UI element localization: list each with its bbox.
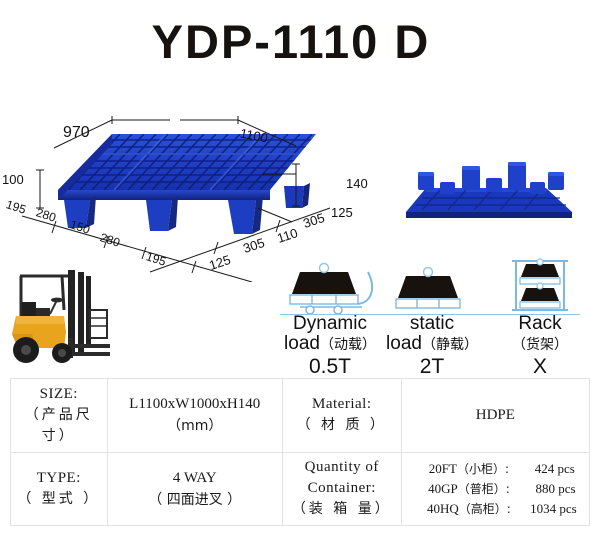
cell-container-label: Quantity of Container: （装 箱 量） bbox=[282, 452, 401, 526]
hand-pallet-truck-icon bbox=[276, 258, 384, 314]
forklift-photo bbox=[6, 258, 130, 376]
load-label-line2: load（动载） bbox=[276, 334, 384, 355]
rack-shelf-icon bbox=[490, 258, 590, 314]
load-value-rack: X bbox=[490, 355, 590, 378]
cell-container-value: 20FT（小柜）: 424 pcs 40GP（普柜）: 880 pcs 40HQ… bbox=[401, 452, 589, 526]
specification-table: SIZE: （产品尺寸） L1100xW1000xH140（mm） Materi… bbox=[10, 378, 590, 526]
container-row-40hq: 40HQ（高柜）: 1034 pcs bbox=[416, 499, 588, 519]
cell-type-value: 4 WAY （ 四面进叉 ） bbox=[107, 452, 282, 526]
inverted-pallet-diagram bbox=[396, 138, 586, 233]
container-row-40gp: 40GP（普柜）: 880 pcs bbox=[416, 479, 588, 499]
static-stack-icon bbox=[380, 258, 484, 314]
load-label-line1: Rack bbox=[490, 314, 590, 334]
cell-size-label: SIZE: （产品尺寸） bbox=[11, 379, 108, 453]
cell-size-value: L1100xW1000xH140（mm） bbox=[107, 379, 282, 453]
container-row-20ft: 20FT（小柜）: 424 pcs bbox=[416, 459, 588, 479]
dim-total-height-140: 140 bbox=[346, 176, 368, 191]
dim-edge-125-right: 125 bbox=[331, 205, 353, 220]
table-row-size: SIZE: （产品尺寸） L1100xW1000xH140（mm） Materi… bbox=[11, 379, 590, 453]
cell-type-label: TYPE: （ 型式 ） bbox=[11, 452, 108, 526]
cell-material-label: Material: （ 材 质 ） bbox=[282, 379, 401, 453]
load-label-line1: static bbox=[380, 314, 484, 334]
page-title: YDP-1110 D bbox=[0, 14, 600, 69]
load-column-static: static load（静载） 2T bbox=[380, 258, 484, 378]
load-capacity-panel: Dynamic load（动载） 0.5T static load（静载） 2T bbox=[276, 258, 594, 376]
load-label-line1: Dynamic bbox=[276, 314, 384, 334]
load-label-line2: （货架） bbox=[490, 334, 590, 355]
load-value-dynamic: 0.5T bbox=[276, 355, 384, 378]
dim-width-970: 970 bbox=[63, 124, 90, 142]
table-row-type: TYPE: （ 型式 ） 4 WAY （ 四面进叉 ） Quantity of … bbox=[11, 452, 590, 526]
load-value-static: 2T bbox=[380, 355, 484, 378]
dim-foot-height-100: 100 bbox=[2, 172, 24, 187]
load-column-dynamic: Dynamic load（动载） 0.5T bbox=[276, 258, 384, 378]
cell-material-value: HDPE bbox=[401, 379, 589, 453]
isometric-pallet-diagram bbox=[16, 128, 366, 273]
load-label-line2: load（静载） bbox=[380, 334, 484, 355]
load-column-rack: Rack （货架） X bbox=[490, 258, 590, 378]
